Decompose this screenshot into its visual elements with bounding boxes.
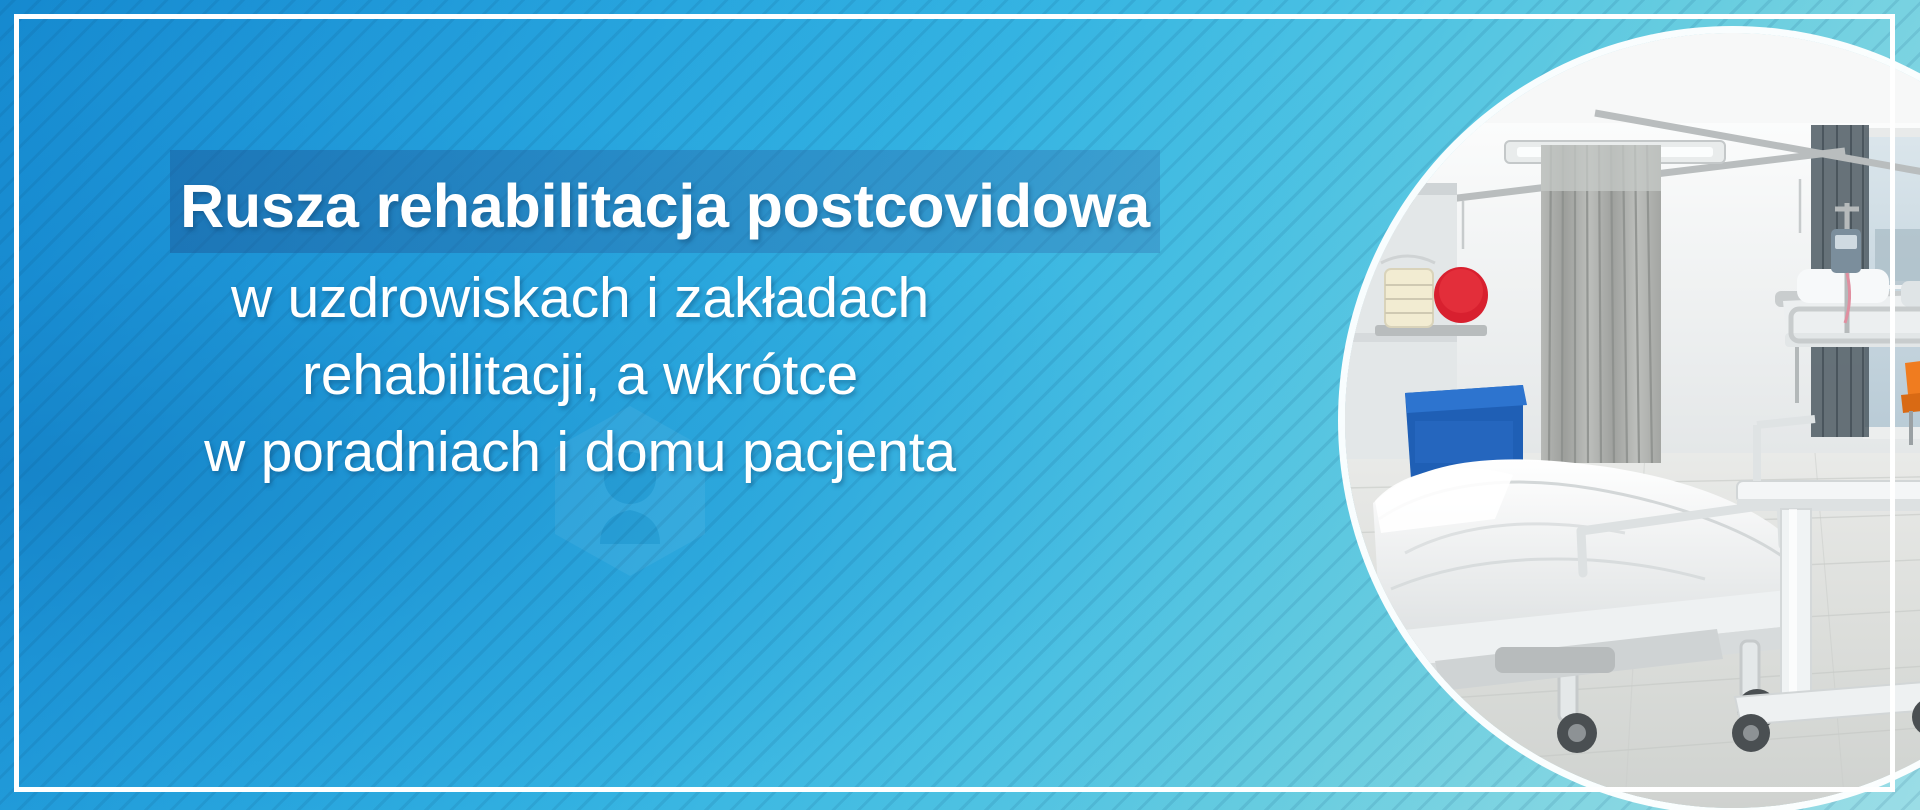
photo-artwork xyxy=(1345,33,1920,808)
banner-root: Rusza rehabilitacja postcovidowa w uzdro… xyxy=(0,0,1920,810)
hospital-ward-photo xyxy=(1345,33,1920,808)
